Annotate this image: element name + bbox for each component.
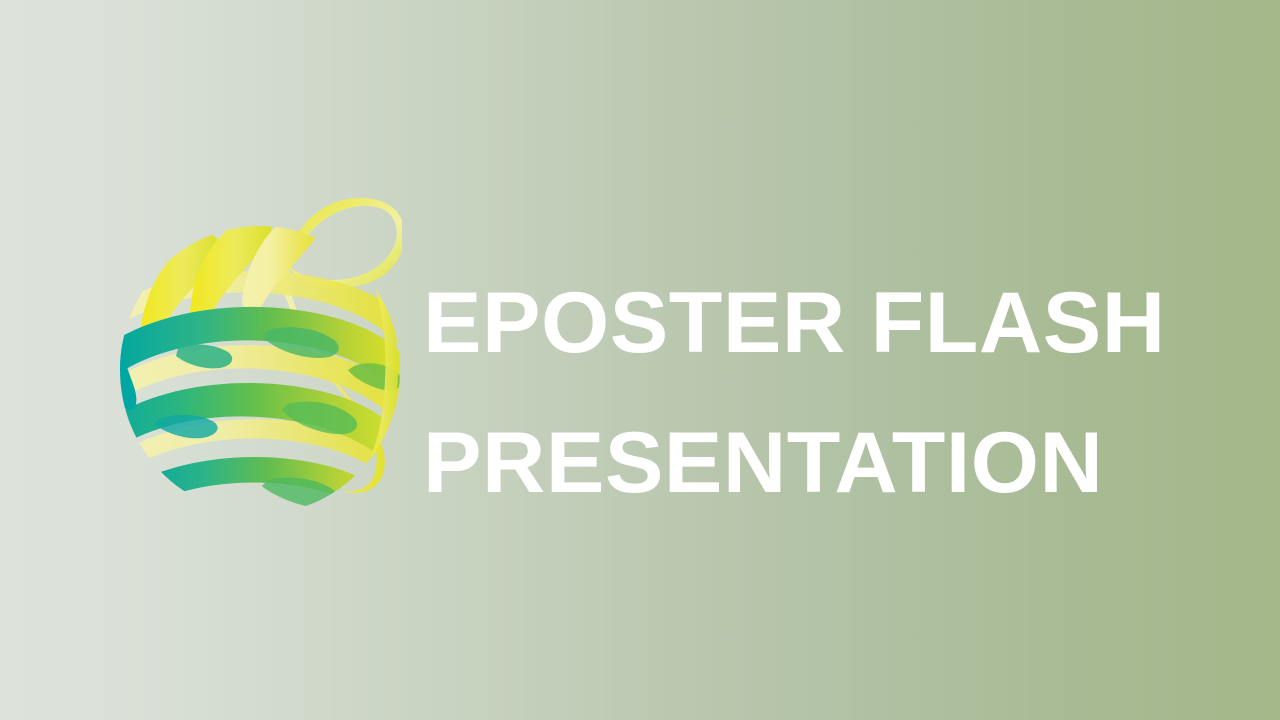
title-line-1: EPOSTER FLASH [423, 253, 1239, 393]
globe-ribbons [118, 198, 402, 514]
globe-ribbon-logo [118, 198, 402, 514]
slide-title: EPOSTER FLASH PRESENTATION [423, 253, 1223, 533]
ribbon-tail-left-3 [124, 488, 152, 514]
title-line-2: PRESENTATION [423, 393, 1239, 533]
presentation-slide: EPOSTER FLASH PRESENTATION [0, 0, 1280, 720]
